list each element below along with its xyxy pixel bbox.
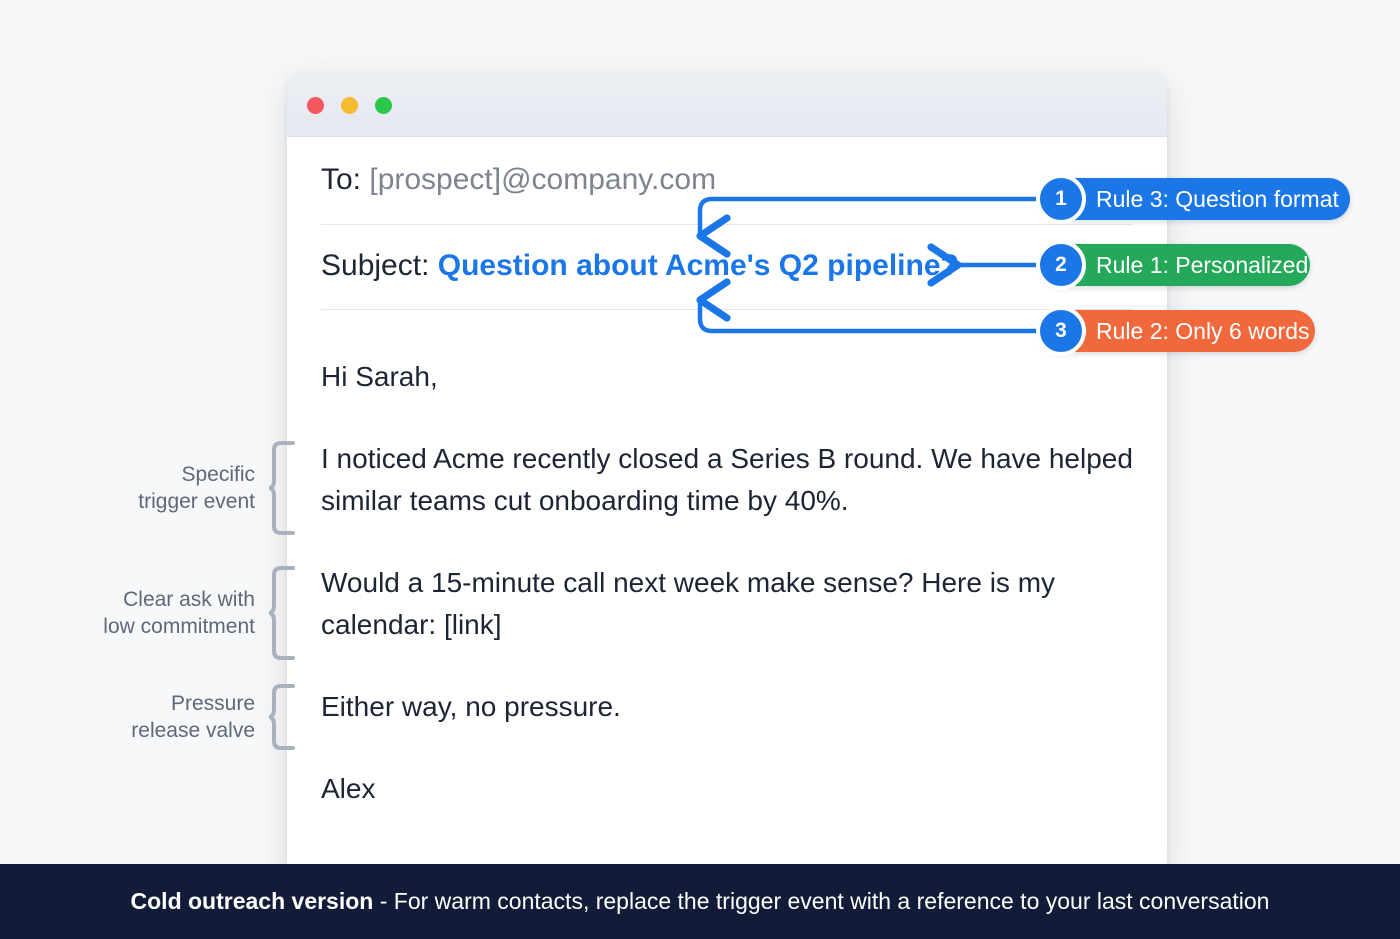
- banner-rest-text: - For warm contacts, replace the trigger…: [373, 888, 1269, 914]
- annotation-label: Pressure release valve: [131, 690, 269, 744]
- body-greeting: Hi Sarah,: [321, 356, 1139, 398]
- header-divider-bottom: [321, 309, 1133, 310]
- subject-field[interactable]: Subject: Question about Acme's Q2 pipeli…: [321, 249, 959, 283]
- window-title-bar: [287, 73, 1167, 137]
- rule-badge-label: Rule 1: Personalized: [1096, 252, 1308, 279]
- rule-badge-label: Rule 3: Question format: [1096, 186, 1339, 213]
- rule-badge-number: 3: [1036, 306, 1086, 356]
- banner-text: Cold outreach version - For warm contact…: [131, 888, 1270, 915]
- page-canvas: To: [prospect]@company.com Subject: Ques…: [0, 0, 1400, 939]
- banner-strong-text: Cold outreach version: [131, 888, 374, 914]
- subject-value: Question about Acme's Q2 pipeline?: [438, 249, 959, 282]
- rule-badge-question-format[interactable]: 1 Rule 3: Question format: [1040, 178, 1350, 220]
- rule-badge-number: 1: [1036, 174, 1086, 224]
- email-window: To: [prospect]@company.com Subject: Ques…: [287, 73, 1167, 873]
- annotation-clear-ask: Clear ask with low commitment: [30, 565, 295, 661]
- curly-brace-icon: [269, 440, 295, 536]
- header-divider-top: [321, 224, 1133, 225]
- rule-badge-personalized[interactable]: 2 Rule 1: Personalized: [1040, 244, 1310, 286]
- to-field[interactable]: To: [prospect]@company.com: [321, 163, 716, 197]
- annotation-label: Clear ask with low commitment: [103, 586, 269, 640]
- body-pressure-paragraph: Either way, no pressure.: [321, 686, 1139, 728]
- subject-label: Subject:: [321, 249, 438, 282]
- bottom-banner: Cold outreach version - For warm contact…: [0, 864, 1400, 939]
- minimize-window-button[interactable]: [341, 97, 358, 114]
- to-label: To:: [321, 163, 369, 196]
- curly-brace-icon: [269, 565, 295, 661]
- curly-brace-icon: [269, 683, 295, 751]
- annotation-label: Specific trigger event: [138, 461, 269, 515]
- close-window-button[interactable]: [307, 97, 324, 114]
- maximize-window-button[interactable]: [375, 97, 392, 114]
- email-body: Hi Sarah, I noticed Acme recently closed…: [321, 356, 1139, 810]
- body-ask-paragraph: Would a 15-minute call next week make se…: [321, 562, 1139, 646]
- annotation-specific-trigger-event: Specific trigger event: [30, 440, 295, 536]
- annotation-pressure-release-valve: Pressure release valve: [30, 683, 295, 751]
- rule-badge-label: Rule 2: Only 6 words: [1096, 318, 1309, 345]
- rule-badge-only-six-words[interactable]: 3 Rule 2: Only 6 words: [1040, 310, 1315, 352]
- body-signature: Alex: [321, 768, 1139, 810]
- body-trigger-paragraph: I noticed Acme recently closed a Series …: [321, 438, 1139, 522]
- to-value: [prospect]@company.com: [369, 163, 716, 196]
- rule-badge-number: 2: [1036, 240, 1086, 290]
